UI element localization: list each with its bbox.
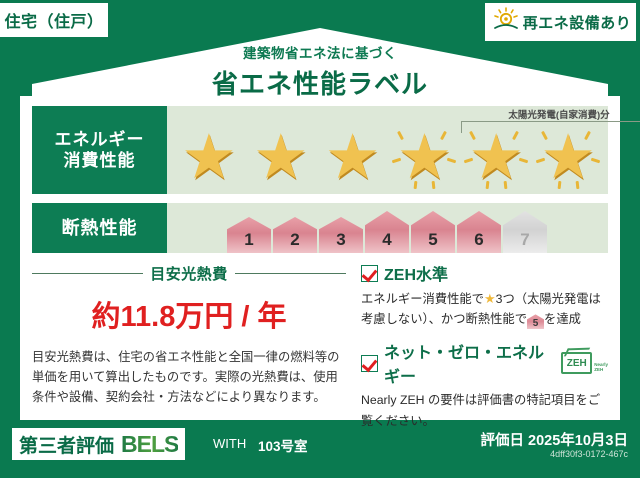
star-icon: ★ (249, 129, 313, 190)
bels-logo-text: BELS (121, 431, 178, 458)
sun-horizon-icon (492, 7, 520, 37)
insulation-level-value: 7 (503, 211, 547, 253)
zeh-logo-roof (564, 348, 590, 357)
net-zero-energy-title: ネット・ゼロ・エネルギー (384, 339, 552, 387)
star-icon: ★ (321, 129, 385, 190)
renewable-energy-label: 再エネ設備あり (523, 12, 632, 33)
footer-room-label: 103号室 (258, 435, 308, 455)
page-title: 省エネ性能ラベル (0, 64, 640, 101)
utility-cost-note: 目安光熱費は、住宅の省エネ性能と全国一律の燃料等の単価を用いて算出したものです。… (32, 348, 346, 408)
cost-heading-label: 目安光熱費 (150, 263, 228, 284)
renewable-energy-badge: 再エネ設備あり (485, 3, 636, 41)
lower-section: 目安光熱費 約11.8万円 / 年 目安光熱費は、住宅の省エネ性能と全国一律の燃… (32, 261, 608, 413)
star-icon: ★ (392, 129, 456, 190)
utility-cost-heading: 目安光熱費 (32, 263, 346, 284)
zeh-standard-title: ZEH水準 (384, 261, 448, 285)
star-rating-group: ★★★★★★ (173, 126, 604, 192)
insulation-level-value: 4 (365, 211, 409, 253)
energy-rating-area: 太陽光発電(自家消費)分 ★★★★★★ (167, 106, 608, 194)
insulation-level-value: 3 (319, 217, 363, 253)
net-zero-energy-block: ネット・ゼロ・エネルギー ZEH Nearly ZEH (361, 339, 608, 430)
zeh-standard-checkbox-icon (361, 265, 378, 282)
zeh-standard-header: ZEH水準 (361, 261, 608, 285)
insulation-rating-area: 1234567 (167, 203, 608, 253)
energy-performance-row: エネルギー 消費性能 太陽光発電(自家消費)分 ★★★★★★ (32, 106, 608, 194)
header-subtitle: 建築物省エネ法に基づく (0, 42, 640, 62)
star-glyph: ★ (321, 129, 385, 190)
insulation-level-value: 1 (227, 217, 271, 253)
insulation-level-value: 6 (457, 211, 501, 253)
net-zero-checkbox-icon (361, 355, 378, 372)
star-icon: ★ (177, 129, 241, 190)
star-glyph: ★ (177, 129, 241, 190)
star-glyph: ★ (249, 129, 313, 190)
zeh-standard-body: エネルギー消費性能で★3つ（太陽光発電は考慮しない）、かつ断熱性能で5を達成 (361, 288, 608, 329)
insulation-level-group: 1234567 (227, 203, 547, 253)
zeh-house-logo-icon: ZEH Nearly ZEH (561, 352, 608, 374)
footer-evaluation-date: 評価日 2025年10月3日 (481, 429, 628, 450)
cost-rule-right (235, 273, 346, 274)
house-icon: 6 (457, 211, 501, 253)
bels-badge: 第三者評価 BELS (12, 428, 185, 460)
utility-cost-column: 目安光熱費 約11.8万円 / 年 目安光熱費は、住宅の省エネ性能と全国一律の燃… (32, 261, 352, 413)
energy-label-line1: エネルギー (55, 129, 145, 150)
building-type-badge: 住宅（住戸） (0, 3, 108, 37)
zeh-column: ZEH水準 エネルギー消費性能で★3つ（太陽光発電は考慮しない）、かつ断熱性能で… (352, 261, 608, 413)
house-icon: 4 (365, 211, 409, 253)
net-zero-energy-header: ネット・ゼロ・エネルギー ZEH Nearly ZEH (361, 339, 608, 387)
house-icon-inline: 5 (527, 314, 544, 329)
house-icon: 1 (227, 217, 271, 253)
zeh-logo-sub2: ZEH (594, 367, 603, 372)
solar-contribution-note: 太陽光発電(自家消費)分 (459, 107, 640, 121)
utility-cost-value: 約11.8万円 / 年 (32, 293, 346, 335)
zeh-standard-block: ZEH水準 エネルギー消費性能で★3つ（太陽光発電は考慮しない）、かつ断熱性能で… (361, 261, 608, 329)
bels-jp-label: 第三者評価 (19, 431, 114, 458)
star-icon-inline: ★ (484, 291, 496, 306)
insulation-label-box: 断熱性能 (32, 203, 167, 253)
zeh-standard-text-1: エネルギー消費性能で (361, 292, 484, 306)
energy-performance-label: 建築物省エネ法に基づく 省エネ性能ラベル 住宅（住戸） 再エネ設備あり (0, 0, 640, 478)
building-type-label: 住宅（住戸） (4, 8, 103, 32)
footer-with-label: WITH (213, 436, 246, 451)
main-card: エネルギー 消費性能 太陽光発電(自家消費)分 ★★★★★★ 断熱性能 1234… (20, 96, 620, 420)
net-zero-energy-body: Nearly ZEH の要件は評価書の特記項目をご覧ください。 (361, 390, 608, 430)
insulation-label: 断熱性能 (62, 217, 138, 240)
insulation-performance-row: 断熱性能 1234567 (32, 203, 608, 253)
cost-rule-left (32, 273, 143, 274)
house-icon: 7 (503, 211, 547, 253)
energy-label-line2: 消費性能 (64, 150, 136, 171)
zeh-logo-house: ZEH (561, 352, 592, 374)
insulation-level-value: 5 (411, 211, 455, 253)
house-icon: 5 (411, 211, 455, 253)
insulation-level-value: 2 (273, 217, 317, 253)
zeh-logo-text: ZEH (567, 358, 587, 369)
house-icon: 2 (273, 217, 317, 253)
star-icon: ★ (536, 129, 600, 190)
zeh-standard-text-3: を達成 (544, 312, 581, 326)
house-icon: 3 (319, 217, 363, 253)
energy-performance-label-box: エネルギー 消費性能 (32, 106, 167, 194)
header-text-group: 建築物省エネ法に基づく 省エネ性能ラベル (0, 42, 640, 101)
star-icon: ★ (464, 129, 528, 190)
zeh-logo-sub: Nearly ZEH (594, 362, 608, 372)
footer-identifier: 4dff30f3-0172-467c (550, 449, 628, 459)
